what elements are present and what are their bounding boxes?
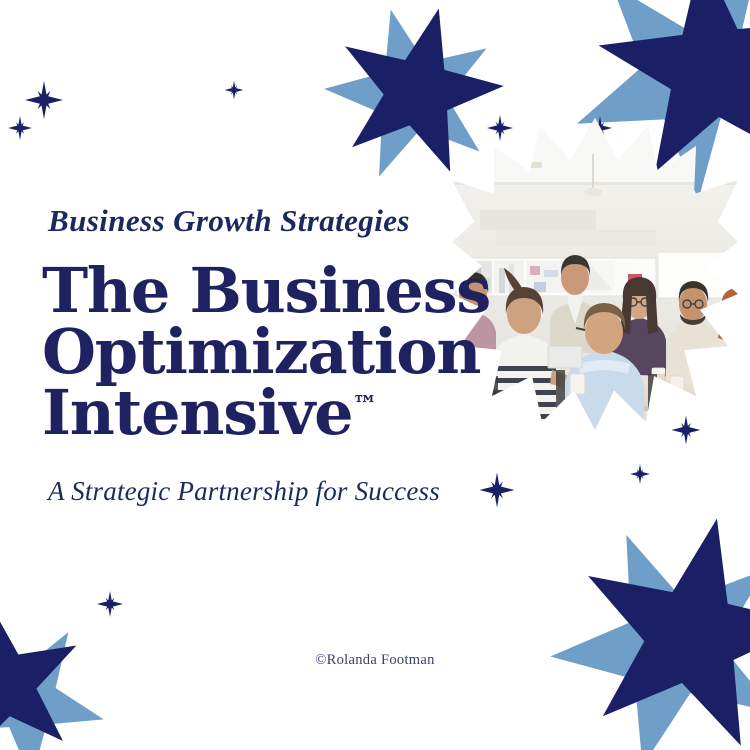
trademark-symbol: ™ (352, 390, 377, 419)
headline-line-3: Intensive (42, 376, 352, 449)
sparkle-upper-left-small (8, 116, 32, 140)
sparkle-top-mid (225, 81, 244, 100)
eyebrow-text: Business Growth Strategies (48, 205, 514, 238)
headline-line-1: The Business (42, 260, 514, 321)
headline-line-2: Optimization (42, 321, 514, 382)
star-bottom-left (0, 590, 126, 750)
poster-canvas: Business Growth Strategies The Business … (0, 0, 750, 750)
headline-line-3-wrap: Intensive™ (42, 382, 514, 443)
sparkle-upper-left-large (25, 81, 63, 119)
copyright-credit: ©Rolanda Footman (0, 652, 750, 669)
star-bottom-right (519, 491, 750, 750)
tagline-text: A Strategic Partnership for Success (48, 476, 514, 507)
sparkle-mid-right (630, 464, 650, 484)
person-far-right (718, 288, 738, 376)
page-title: The Business Optimization Intensive™ (42, 260, 514, 444)
sparkle-bottom-left (97, 591, 123, 617)
poster-text-block: Business Growth Strategies The Business … (44, 205, 514, 507)
